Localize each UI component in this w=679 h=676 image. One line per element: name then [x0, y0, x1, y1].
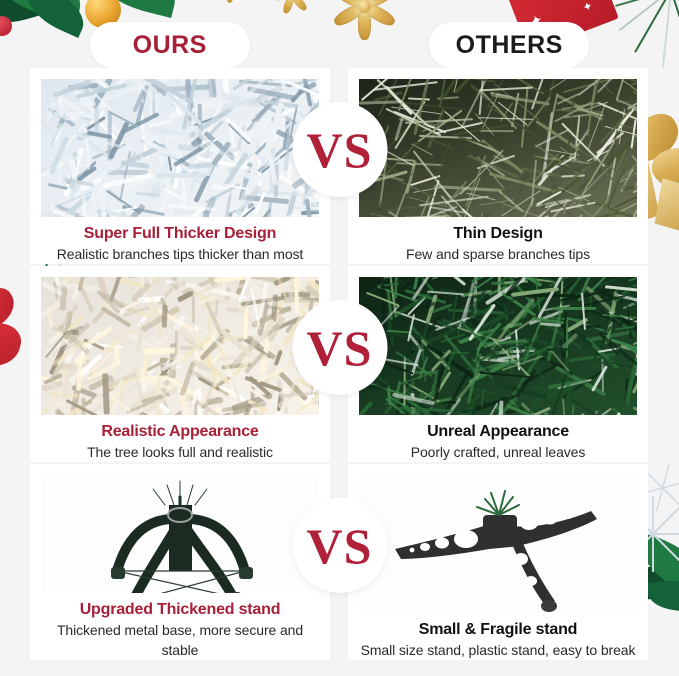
caption-1-ours: Super Full Thicker Design Realistic bran… — [41, 217, 319, 264]
vs-label-2: VS — [307, 323, 373, 373]
others-card-2: Unreal Appearance Poorly crafted, unreal… — [348, 266, 648, 462]
dark-green-unreal-leaves-photo — [359, 277, 637, 415]
ours-title-1: Super Full Thicker Design — [41, 224, 319, 244]
comparison-row-2: Realistic Appearance The tree looks full… — [30, 266, 649, 462]
ours-title-2: Realistic Appearance — [41, 422, 319, 442]
others-label: OTHERS — [456, 31, 563, 60]
plastic-stand-illustration — [359, 475, 637, 613]
comparison-row-3: Upgraded Thickened stand Thickened metal… — [30, 464, 649, 660]
ours-card-2: Realistic Appearance The tree looks full… — [30, 266, 330, 462]
caption-1-others: Thin Design Few and sparse branches tips — [359, 217, 637, 264]
flocked-thick-branches-photo — [41, 79, 319, 217]
ours-subtitle-2: The tree looks full and realistic — [41, 442, 319, 462]
others-subtitle-1: Few and sparse branches tips — [359, 244, 637, 264]
metal-stand-illustration — [41, 475, 319, 593]
comparison-page: ✦ ✦ ✦ — [0, 0, 679, 676]
comparison-grid: Super Full Thicker Design Realistic bran… — [30, 68, 649, 668]
ours-label: OURS — [133, 31, 207, 60]
vs-badge-1: VS — [292, 102, 387, 197]
realistic-full-white-tree-photo — [41, 277, 319, 415]
ours-subtitle-1: Realistic branches tips thicker than mos… — [41, 244, 319, 264]
small-plastic-stand-photo — [359, 475, 637, 613]
others-title-3: Small & Fragile stand — [359, 620, 637, 640]
ours-pill: OURS — [90, 22, 250, 68]
others-card-1: Thin Design Few and sparse branches tips — [348, 68, 648, 264]
others-pill: OTHERS — [429, 22, 589, 68]
caption-2-others: Unreal Appearance Poorly crafted, unreal… — [359, 415, 637, 462]
others-title-2: Unreal Appearance — [359, 422, 637, 442]
caption-3-others: Small & Fragile stand Small size stand, … — [359, 613, 637, 660]
others-title-1: Thin Design — [359, 224, 637, 244]
comparison-row-1: Super Full Thicker Design Realistic bran… — [30, 68, 649, 264]
others-card-3: Small & Fragile stand Small size stand, … — [348, 464, 648, 660]
vs-label-1: VS — [307, 125, 373, 175]
thickened-metal-stand-photo — [41, 475, 319, 593]
caption-3-ours: Upgraded Thickened stand Thickened metal… — [41, 593, 319, 660]
vs-badge-3: VS — [292, 498, 387, 593]
ours-title-3: Upgraded Thickened stand — [41, 600, 319, 620]
caption-2-ours: Realistic Appearance The tree looks full… — [41, 415, 319, 462]
ours-card-3: Upgraded Thickened stand Thickened metal… — [30, 464, 330, 660]
vs-label-3: VS — [307, 521, 373, 571]
header: OURS OTHERS — [0, 22, 679, 68]
others-subtitle-2: Poorly crafted, unreal leaves — [359, 442, 637, 462]
thin-sparse-branches-photo — [359, 79, 637, 217]
vs-badge-2: VS — [292, 300, 387, 395]
ours-card-1: Super Full Thicker Design Realistic bran… — [30, 68, 330, 264]
others-subtitle-3: Small size stand, plastic stand, easy to… — [359, 640, 637, 660]
ours-subtitle-3: Thickened metal base, more secure and st… — [41, 620, 319, 660]
